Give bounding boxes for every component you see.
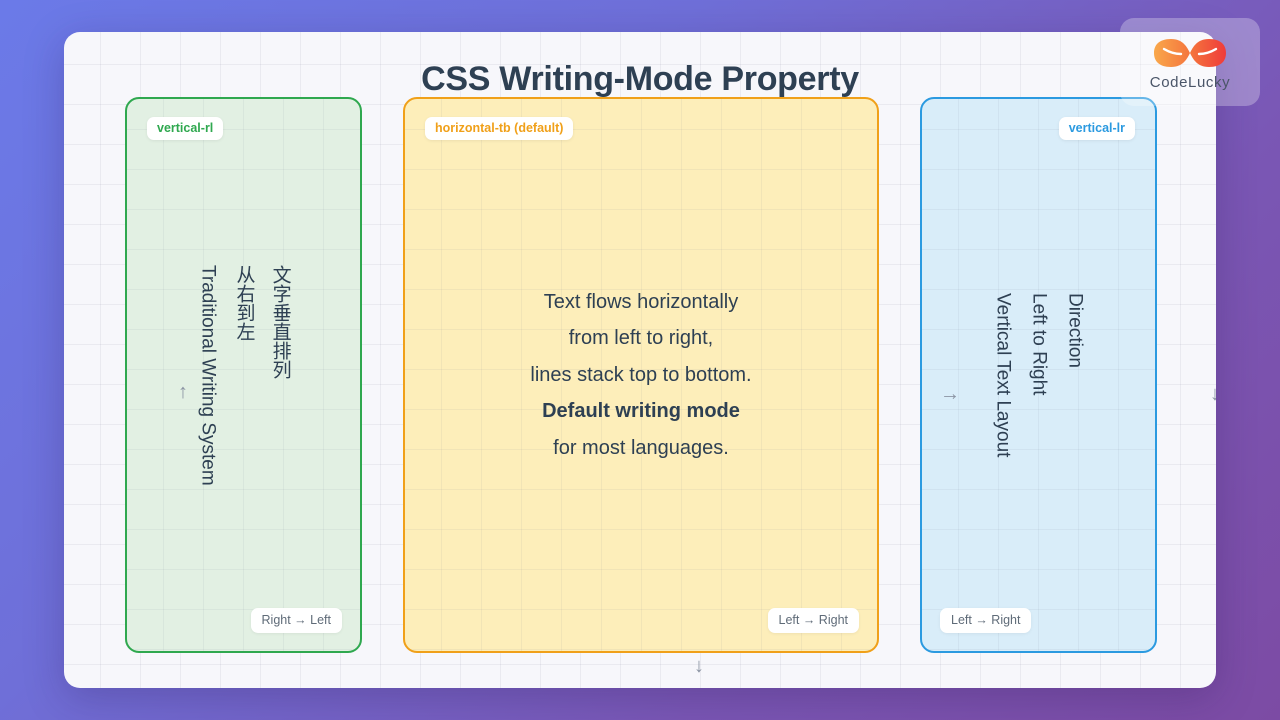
panel-vertical-lr[interactable]: vertical-lr Vertical Text LayoutLeft to …: [920, 97, 1157, 653]
codelucky-watermark: CodeLucky: [1120, 18, 1260, 106]
mode-badge-vertical-rl: vertical-rl: [147, 117, 223, 140]
panel-text-content: 文字垂直排列从右到左Traditional Writing System: [189, 265, 297, 486]
panel-vertical-rl[interactable]: vertical-rl 文字垂直排列从右到左Traditional Writin…: [125, 97, 362, 653]
codelucky-brand-label: CodeLucky: [1150, 74, 1230, 91]
mode-badge-vertical-lr: vertical-lr: [1059, 117, 1135, 140]
panel-text-line: for most languages.: [530, 430, 751, 466]
codelucky-infinity-logo-icon: [1151, 33, 1229, 73]
panel-horizontal-tb[interactable]: horizontal-tb (default) Text flows horiz…: [403, 97, 879, 653]
panel-text-line: lines stack top to bottom.: [530, 357, 751, 393]
panel-text-content: Vertical Text LayoutLeft to RightDirecti…: [984, 293, 1092, 457]
panel-text-line: Text flows horizontally: [530, 284, 751, 320]
direction-chip-vertical-lr: Left → Right: [940, 608, 1031, 633]
panel-text-vertical-lr: Vertical Text LayoutLeft to RightDirecti…: [922, 99, 1155, 651]
inline-flow-arrow-right-icon: →: [940, 384, 960, 404]
panel-text-line: from left to right,: [530, 320, 751, 356]
block-flow-arrow-up-icon: ↑: [178, 382, 188, 402]
page-title: CSS Writing-Mode Property: [64, 60, 1216, 99]
block-flow-arrow-down-right-icon: ↓: [1210, 384, 1216, 404]
panel-text-horizontal-tb: Text flows horizontallyfrom left to righ…: [405, 99, 877, 651]
mode-badge-horizontal-tb: horizontal-tb (default): [425, 117, 573, 140]
slide-card: CSS Writing-Mode Property vertical-rl 文字…: [64, 32, 1216, 688]
panel-text-vertical-rl: 文字垂直排列从右到左Traditional Writing System: [127, 99, 360, 651]
direction-chip-horizontal-tb: Left → Right: [768, 608, 859, 633]
panel-text-content: Text flows horizontallyfrom left to righ…: [530, 284, 751, 466]
block-flow-arrow-down-icon: ↓: [694, 656, 704, 676]
panel-text-line: Default writing mode: [530, 393, 751, 429]
direction-chip-vertical-rl: Right → Left: [251, 608, 342, 633]
